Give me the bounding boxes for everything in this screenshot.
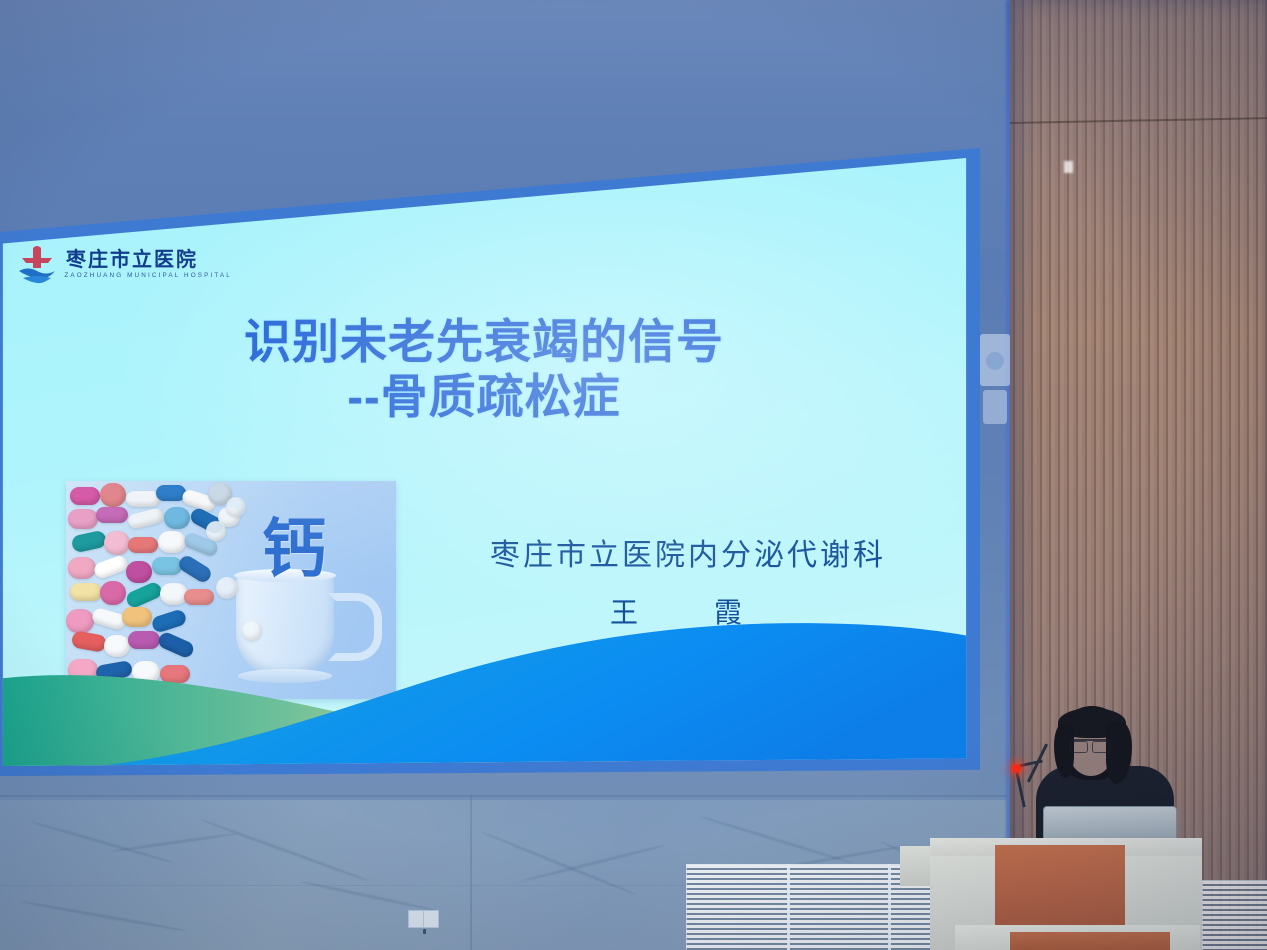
- glasses-icon: [1070, 739, 1110, 751]
- vent-divider: [787, 864, 790, 950]
- podium-wood-panel: [995, 845, 1125, 931]
- air-vent-grille: [1202, 880, 1267, 950]
- conference-hall-photo: 枣庄市立医院 ZAOZHUANG MUNICIPAL HOSPITAL 识别未老…: [0, 0, 1267, 950]
- glasses-lens-left: [1070, 741, 1088, 753]
- glasses-lens-right: [1092, 741, 1110, 753]
- vent-divider: [888, 864, 891, 950]
- podium-area: [0, 0, 1267, 950]
- microphone-led-indicator: [1012, 764, 1021, 773]
- podium-lower-wood-panel: [1010, 932, 1170, 950]
